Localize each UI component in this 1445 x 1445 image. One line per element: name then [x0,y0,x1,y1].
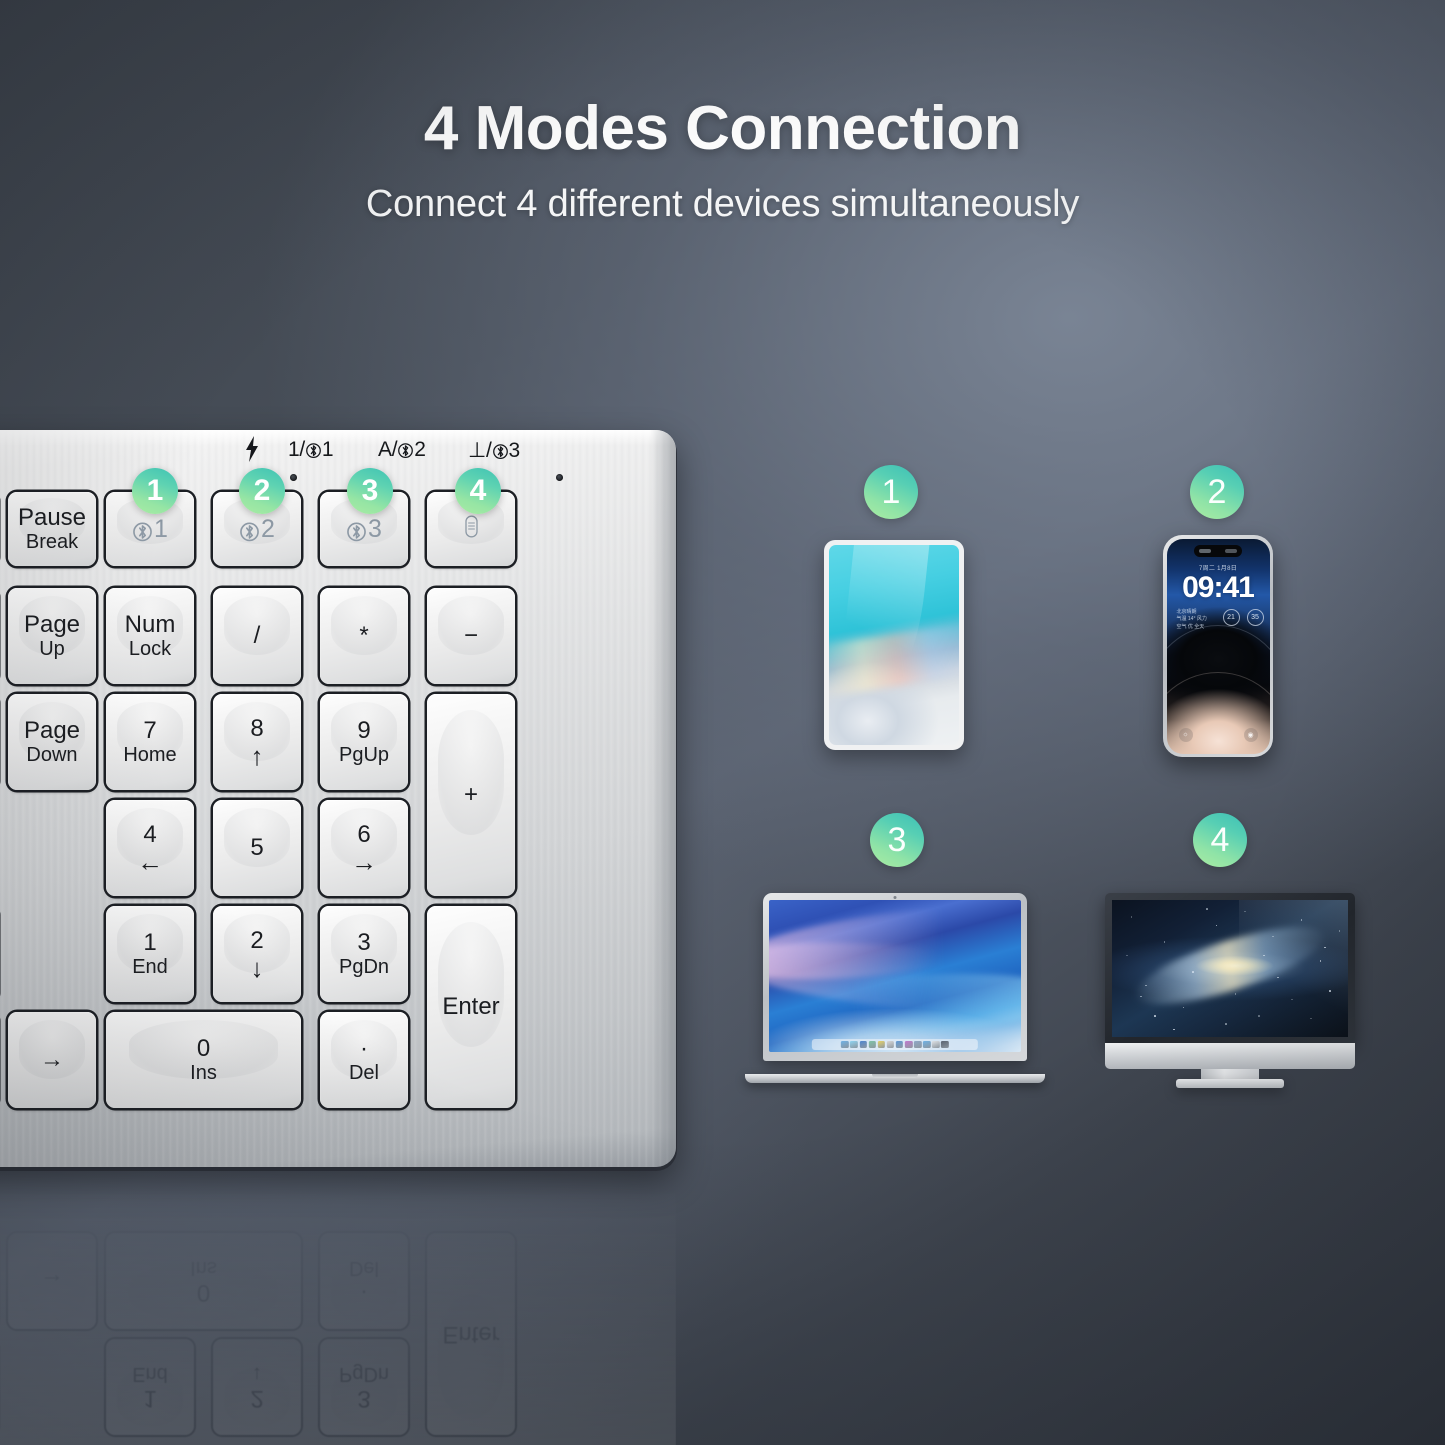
phone-weather-widget-text: 北京晴朗气温 14° 风力空气 优 全天 [1177,609,1207,632]
dock-icon-8[interactable] [905,1041,913,1049]
key-multiply[interactable]: * [320,588,408,684]
star-speck [1183,1007,1185,1009]
key-num-3[interactable]: 3PgDn [320,906,408,1002]
key-main-label: 2 [250,927,263,954]
reflected-key: 2↓ [213,1339,301,1435]
key-sub-label: Break [26,531,78,554]
key-sub-label: Del [349,1062,379,1085]
laptop-screen [769,900,1021,1052]
bluetooth-icon [306,442,321,459]
laptop-webcam-icon [894,896,897,899]
usb-receiver-icon [463,515,480,544]
key-num-9[interactable]: 9PgUp [320,694,408,790]
star-speck [1235,993,1237,995]
key-main-label: Page [24,611,80,638]
led-indicator-1 [290,474,297,481]
key-sub-label: → [351,849,377,875]
keyboard-right-edge [650,430,676,1167]
indicator-prefix: ⊥/ [468,439,492,462]
key-main-label: 8 [250,715,263,742]
dock-icon-4[interactable] [869,1041,877,1049]
keyboard-mode-badge-1: 1 [132,468,178,514]
phone-lockscreen-time: 09:41 [1167,571,1270,605]
device-badge-2: 2 [1190,465,1244,519]
dock-icon-3[interactable] [859,1041,867,1049]
reflected-key: 3PgDn [320,1339,408,1435]
key-main-label: · [360,1035,368,1062]
indicator-label-1: 1/1 [288,438,333,462]
star-speck [1291,999,1293,1001]
key-main-label: Num [125,611,176,638]
key-main-label: 1 [143,929,156,956]
widget-line: 空气 优 全天 [1177,624,1207,632]
tablet-screen [829,545,959,745]
star-speck [1329,990,1331,992]
keyboard-reflection: ↑1End2↓3PgDnEnter↓→0Ins·Del [0,1174,676,1445]
star-speck [1192,971,1194,973]
key-main-label: → [40,1046,64,1073]
dock-icon-9[interactable] [914,1041,922,1049]
phone-circular-widget-b: 35 [1247,609,1264,626]
dynamic-island [1194,545,1242,557]
key-sub-label: Lock [129,638,171,661]
star-speck [1154,1015,1156,1017]
desktop-monitor-device [1105,893,1355,1088]
reflected-key: 0Ins [106,1233,301,1329]
star-speck [1277,977,1279,979]
dock-icon-10[interactable] [923,1041,931,1049]
device-cell-tablet: 1 [808,455,1058,785]
key-divide[interactable]: / [213,588,301,684]
key-main-label: * [359,622,368,649]
indicator-suffix: 3 [509,439,520,462]
wireless-keyboard: 1/1 A/2 ⊥/3 ScrollLockPauseBreak123HomeP… [0,430,676,1167]
star-speck [1126,955,1128,957]
screen-glare [1239,900,1348,1037]
keyboard-illustration: ↑1End2↓3PgDnEnter↓→0Ins·Del 1/1 A/2 ⊥/3 … [0,430,690,1170]
key-plus[interactable]: + [427,694,515,896]
camera-icon[interactable]: ◉ [1244,728,1258,742]
dock-icon-12[interactable] [941,1041,949,1049]
page-title: 4 Modes Connection [0,96,1445,161]
indicator-prefix: 1/ [288,438,305,461]
key-decimal[interactable]: ·Del [320,1012,408,1108]
indicator-suffix: 2 [414,438,425,461]
key-minus[interactable]: − [427,588,515,684]
keyboard-reflection-body: ↑1End2↓3PgDnEnter↓→0Ins·Del [0,1174,676,1445]
key-mode-number: 3 [368,515,382,543]
bluetooth-icon [493,443,508,460]
bluetooth-icon [398,442,413,459]
phone-circular-widget-a: 21 [1223,609,1240,626]
device-cell-monitor: 4 [1095,805,1365,1095]
key-main-label: + [464,781,478,808]
phone-screen: 7周二 1月8日 09:41 北京晴朗气温 14° 风力空气 优 全天 21 3… [1167,539,1270,754]
monitor-chin [1105,1043,1355,1069]
key-sub-label: PgUp [339,744,389,767]
dock-icon-2[interactable] [850,1041,858,1049]
key-mode-number: 2 [261,515,275,543]
star-speck [1320,960,1322,962]
key-num-7[interactable]: 7Home [106,694,194,790]
dock-icon-5[interactable] [878,1041,886,1049]
star-speck [1339,930,1341,932]
indicator-label-3: ⊥/3 [468,438,520,463]
indicator-suffix: 1 [322,438,333,461]
device-cell-laptop: 3 [745,805,1055,1095]
keyboard-mode-badge-4: 4 [455,468,501,514]
key-main-label: 6 [357,821,370,848]
device-badge-3: 3 [870,813,924,867]
key-main-label: / [254,622,261,649]
key-sub-label: ← [137,849,163,875]
device-badge-1: 1 [864,465,918,519]
key-main-label: Enter [442,993,499,1020]
laptop-lid [763,893,1027,1061]
key-num-5[interactable]: 5 [213,800,301,896]
laptop-lid-notch [872,1074,918,1078]
keyboard-mode-badge-2: 2 [239,468,285,514]
lightning-bolt-icon [244,436,260,467]
key-sub-label: ↓ [251,955,264,981]
macos-dock[interactable] [812,1039,978,1050]
key-page-down[interactable]: PageDown [8,694,96,790]
key-sub-label: PgDn [339,956,389,979]
star-speck [1225,1023,1227,1025]
flashlight-icon[interactable]: ☼ [1179,728,1193,742]
status-indicator-row: 1/1 A/2 ⊥/3 [260,438,560,484]
key-main-label: Pause [18,504,86,531]
key-main-label: 4 [143,821,156,848]
key-pause-break[interactable]: PauseBreak [8,492,96,566]
bluetooth-icon [133,521,148,538]
reflected-key: → [8,1233,96,1329]
key-num-4[interactable]: 4← [106,800,194,896]
key-main-label: Page [24,717,80,744]
star-speck [1206,908,1208,910]
star-speck [1324,947,1326,949]
dock-icon-1[interactable] [841,1041,849,1049]
key-num-6[interactable]: 6→ [320,800,408,896]
key-enter[interactable]: Enter [427,906,515,1108]
star-speck [1258,1015,1260,1017]
star-speck [1173,1029,1175,1031]
bluetooth-icon [240,521,255,538]
star-speck [1131,916,1133,918]
star-speck [1216,925,1218,927]
bluetooth-icon [347,521,362,538]
smartphone-device: 7周二 1月8日 09:41 北京晴朗气温 14° 风力空气 优 全天 21 3… [1163,535,1273,757]
keyboard-mode-badge-3: 3 [347,468,393,514]
key-main-label: 0 [197,1035,210,1062]
header-block: 4 Modes Connection Connect 4 different d… [0,96,1445,226]
key-num-8[interactable]: 8↑ [213,694,301,790]
poster-canvas: 4 Modes Connection Connect 4 different d… [0,0,1445,1445]
dock-icon-6[interactable] [887,1041,895,1049]
device-cell-phone: 2 7周二 1月8日 09:41 北京晴朗气温 14° 风力空气 优 全天 21… [1130,455,1380,785]
widget-line: 气温 14° 风力 [1177,616,1207,624]
key-main-label: 9 [357,717,370,744]
laptop-base [745,1074,1045,1083]
key-sub-label: Up [39,638,65,661]
key-num-0[interactable]: 0Ins [106,1012,301,1108]
star-speck [1164,941,1166,943]
dock-icon-7[interactable] [896,1041,904,1049]
key-num-1[interactable]: 1End [106,906,194,1002]
key-main-label: 5 [250,834,263,861]
key-arrow-right[interactable]: → [8,1012,96,1108]
monitor-screen [1112,900,1348,1037]
key-sub-label: Ins [190,1062,217,1085]
indicator-prefix: A/ [378,438,397,461]
key-num-2[interactable]: 2↓ [213,906,301,1002]
key-main-label: 3 [357,929,370,956]
key-mode-number: 1 [154,515,168,543]
key-num-lock[interactable]: NumLock [106,588,194,684]
key-main-label: − [464,622,478,649]
key-sub-label: Down [26,744,77,767]
monitor-bezel [1105,893,1355,1043]
device-badge-4: 4 [1193,813,1247,867]
laptop-device [745,893,1045,1083]
reflected-key: ·Del [320,1233,408,1329]
key-main-label: 7 [143,717,156,744]
reflected-key: 1End [106,1339,194,1435]
key-sub-label: End [132,956,168,979]
monitor-stand-foot [1176,1079,1284,1088]
reflected-key: Enter [427,1233,515,1435]
star-speck [1272,936,1274,938]
dock-icon-11[interactable] [932,1041,940,1049]
key-page-up[interactable]: PageUp [8,588,96,684]
page-subtitle: Connect 4 different devices simultaneous… [0,183,1445,226]
tablet-device [824,540,964,750]
led-indicator-4 [556,474,563,481]
key-sub-label: ↑ [251,743,264,769]
key-sub-label: Home [123,744,176,767]
indicator-label-2: A/2 [378,438,426,462]
